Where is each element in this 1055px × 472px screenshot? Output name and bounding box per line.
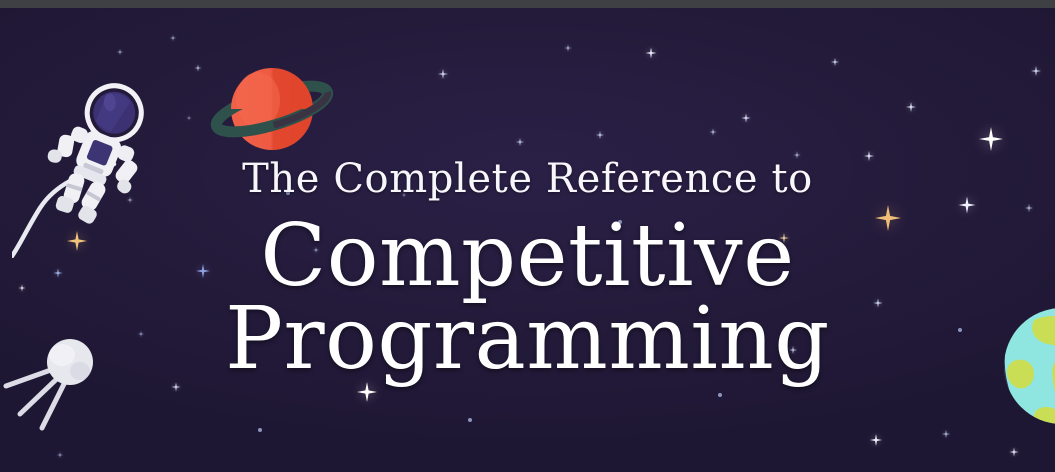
star xyxy=(258,428,262,432)
star xyxy=(468,418,472,422)
star-sparkle-icon xyxy=(1031,66,1041,76)
star xyxy=(942,430,950,438)
screenshot-root: The Complete Reference to Competitive Pr… xyxy=(0,0,1055,472)
star xyxy=(195,65,202,72)
star xyxy=(831,58,839,66)
headline-block: The Complete Reference to Competitive Pr… xyxy=(0,158,1055,387)
star xyxy=(870,434,882,446)
star xyxy=(438,69,448,79)
star-sparkle-icon xyxy=(565,45,572,52)
space-background: The Complete Reference to Competitive Pr… xyxy=(0,8,1055,472)
star xyxy=(979,127,1003,151)
star xyxy=(906,102,916,112)
star-sparkle-icon xyxy=(742,114,751,123)
star xyxy=(565,45,572,52)
star-dot-icon xyxy=(258,428,262,432)
star-sparkle-icon xyxy=(187,116,192,121)
star-sparkle-icon xyxy=(942,430,950,438)
star-sparkle-icon xyxy=(1010,448,1019,457)
star-sparkle-icon xyxy=(170,35,176,41)
star xyxy=(710,129,717,136)
star-sparkle-icon xyxy=(831,58,839,66)
star-sparkle-icon xyxy=(438,69,448,79)
star-sparkle-icon xyxy=(516,138,524,146)
star xyxy=(1031,66,1041,76)
star-sparkle-icon xyxy=(117,49,123,55)
star-sparkle-icon xyxy=(195,65,202,72)
star xyxy=(718,393,722,397)
headline-subtitle: The Complete Reference to xyxy=(0,158,1055,200)
headline-title-line-2: Programming xyxy=(0,291,1055,387)
star-sparkle-icon xyxy=(906,102,916,112)
star xyxy=(742,114,751,123)
browser-chrome-bar xyxy=(0,0,1055,8)
star xyxy=(596,131,604,139)
star-sparkle-icon xyxy=(710,129,717,136)
star xyxy=(1010,448,1019,457)
star-sparkle-icon xyxy=(646,48,657,59)
star xyxy=(516,138,524,146)
star xyxy=(117,49,123,55)
star xyxy=(646,48,657,59)
star-dot-icon xyxy=(468,418,472,422)
star-dot-icon xyxy=(718,393,722,397)
star-sparkle-icon xyxy=(870,434,882,446)
star xyxy=(170,35,176,41)
ringed-planet-illustration xyxy=(210,56,334,162)
star-sparkle-icon xyxy=(596,131,604,139)
star xyxy=(187,116,192,121)
ringed-planet-icon xyxy=(210,56,334,162)
star-sparkle-icon xyxy=(979,127,1003,151)
